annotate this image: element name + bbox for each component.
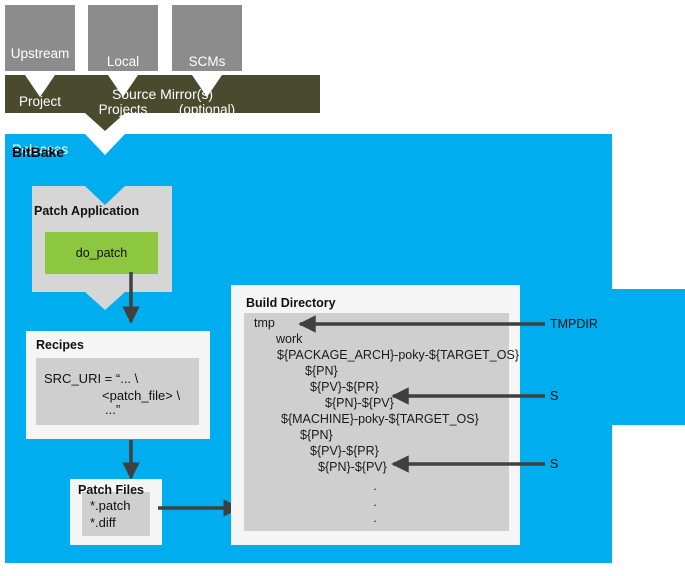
build-tree-ellipsis-1: · [373, 482, 377, 498]
patch-files-item: *.patch [90, 497, 130, 514]
build-tree-ellipsis-2: · [373, 498, 377, 514]
callout-label-s-package-arch: S [550, 389, 558, 403]
source-box-upstream-label: Upstream Project Releases [5, 14, 75, 190]
patch-files-title: Patch Files [78, 483, 144, 497]
source-label-line: Upstream [5, 46, 75, 62]
source-label-line: SCMs [172, 54, 242, 70]
source-label-line: Projects [88, 102, 158, 118]
callout-label-tmpdir: TMPDIR [550, 317, 598, 331]
diagram-canvas: Upstream Project Releases Local Projects… [0, 0, 685, 576]
build-tree-item-machine: ${MACHINE}-poky-${TARGET_OS} [281, 412, 479, 428]
recipes-code-line-1: SRC_URI = “... \ [44, 370, 138, 387]
build-tree-item-pv-pr-1: ${PV}-${PR} [310, 380, 379, 396]
recipes-title: Recipes [36, 338, 84, 352]
source-label-line: (optional) [172, 102, 242, 118]
source-label-line: Local [88, 54, 158, 70]
build-tree-item-pn-1: ${PN} [305, 364, 338, 380]
build-tree-item-package-arch: ${PACKAGE_ARCH}-poky-${TARGET_OS} [277, 348, 519, 364]
patch-application-title: Patch Application [34, 204, 139, 218]
build-tree-item-tmp: tmp [254, 316, 275, 332]
build-tree-item-work: work [276, 332, 302, 348]
recipes-code-line-3: ...” [105, 401, 120, 418]
callout-label-s-machine: S [550, 457, 558, 471]
do-patch-label: do_patch [45, 246, 158, 260]
build-directory-title: Build Directory [246, 296, 336, 310]
bitbake-label: BitBake [12, 144, 64, 160]
build-tree-ellipsis-3: · [373, 514, 377, 530]
source-mirror-label: Source Mirror(s) [5, 86, 320, 102]
build-tree-item-pv-pr-2: ${PV}-${PR} [310, 444, 379, 460]
build-tree-item-pn-pv-2: ${PN}-${PV} [318, 460, 387, 476]
patch-files-item: *.diff [90, 514, 116, 531]
build-tree-item-pn-2: ${PN} [300, 428, 333, 444]
build-tree-item-pn-pv-1: ${PN}-${PV} [325, 396, 394, 412]
